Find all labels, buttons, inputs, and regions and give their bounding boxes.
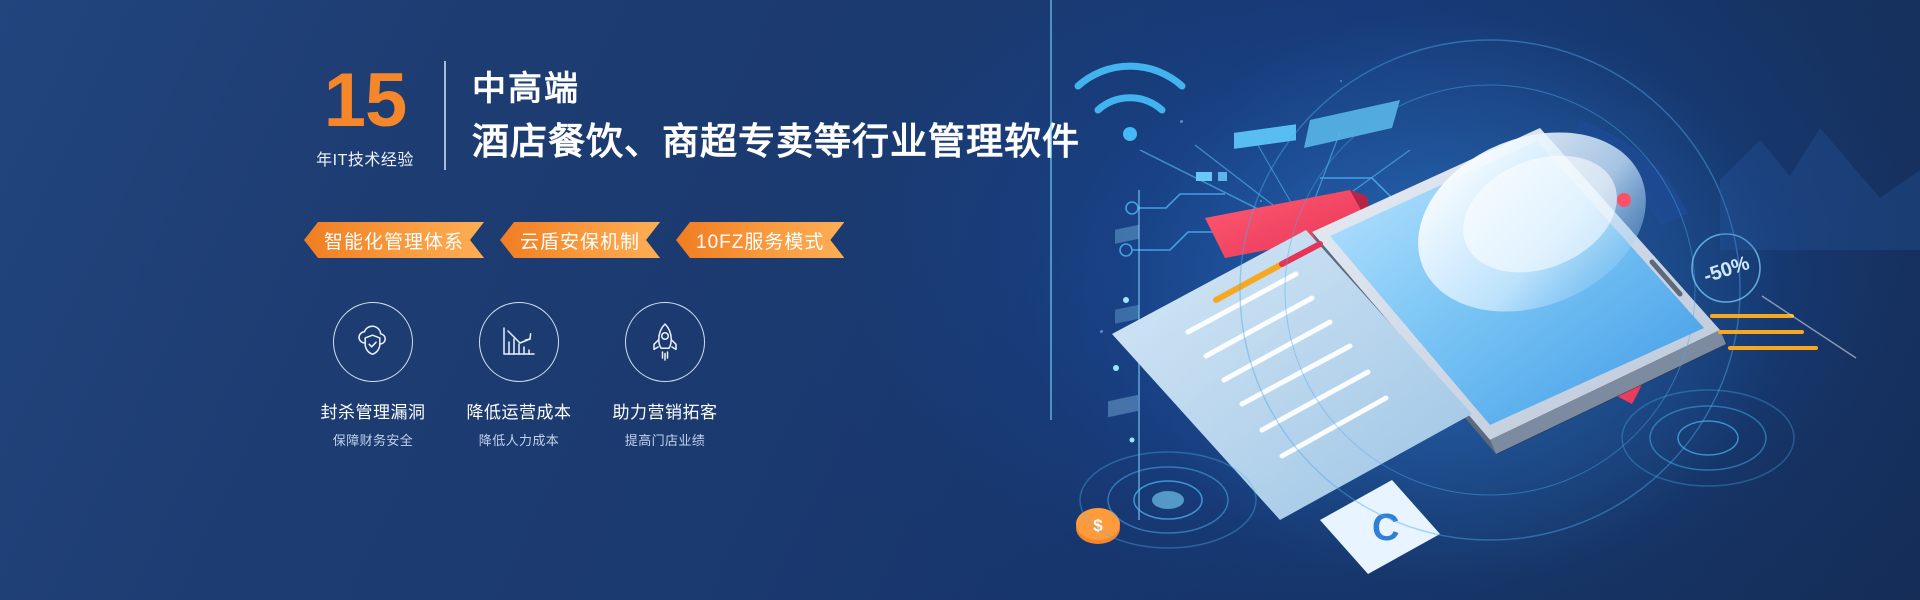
spark-dot <box>1123 297 1129 303</box>
feature-pill-3[interactable]: 10FZ服务模式 <box>676 222 844 258</box>
feature-label: 封杀管理漏洞 <box>321 398 426 423</box>
spark-dot <box>1130 438 1135 443</box>
rocket-icon <box>645 321 685 363</box>
feature-sublabel: 降低人力成本 <box>479 430 559 449</box>
feature-pill-1[interactable]: 智能化管理体系 <box>304 222 484 258</box>
feature-sublabel: 提高门店业绩 <box>625 430 705 449</box>
headline-line-1: 中高端 <box>472 68 1080 111</box>
feature-label: 降低运营成本 <box>467 398 572 423</box>
mountain-silhouette <box>1720 128 1920 250</box>
banner-left-content: 15 年IT技术经验 中高端 酒店餐饮、商超专卖等行业管理软件 智能化管理体系 … <box>300 55 1100 525</box>
circuit-chip <box>1196 172 1212 181</box>
circuit-chip <box>1218 172 1227 181</box>
experience-years-caption: 年IT技术经验 <box>316 146 414 170</box>
hero-illustration: C $ <box>1020 0 1920 600</box>
feature-item-1[interactable]: 封杀管理漏洞 保障财务安全 <box>300 302 446 449</box>
experience-years-number: 15 <box>324 65 407 137</box>
headline-row: 15 年IT技术经验 中高端 酒店餐饮、商超专卖等行业管理软件 <box>300 55 1100 180</box>
feature-item-3[interactable]: 助力营销拓客 提高门店业绩 <box>592 302 738 449</box>
wifi-icon <box>1078 66 1182 141</box>
feature-icon-circle <box>479 302 559 382</box>
camera-dot <box>1617 193 1631 207</box>
declining-bar-chart-icon <box>498 322 540 362</box>
spark-dot <box>1113 365 1119 371</box>
feature-list: 封杀管理漏洞 保障财务安全 降低运营成本 降低人力成本 <box>300 302 1100 449</box>
feature-pill-list: 智能化管理体系 云盾安保机制 10FZ服务模式 <box>304 222 1100 258</box>
feature-icon-circle <box>333 302 413 382</box>
isometric-phone-artwork: C $ <box>1020 0 1920 600</box>
experience-years-block: 15 年IT技术经验 <box>300 55 444 180</box>
feature-label: 助力营销拓客 <box>613 398 718 423</box>
feature-pill-2[interactable]: 云盾安保机制 <box>500 222 660 258</box>
feature-icon-circle <box>625 302 705 382</box>
headline-block: 中高端 酒店餐饮、商超专卖等行业管理软件 <box>446 55 1080 180</box>
feature-sublabel: 保障财务安全 <box>333 430 413 449</box>
cloud-shield-check-icon <box>351 322 395 362</box>
promo-banner: 15 年IT技术经验 中高端 酒店餐饮、商超专卖等行业管理软件 智能化管理体系 … <box>0 0 1920 600</box>
headline-line-2: 酒店餐饮、商超专卖等行业管理软件 <box>472 117 1080 167</box>
feature-item-2[interactable]: 降低运营成本 降低人力成本 <box>446 302 592 449</box>
